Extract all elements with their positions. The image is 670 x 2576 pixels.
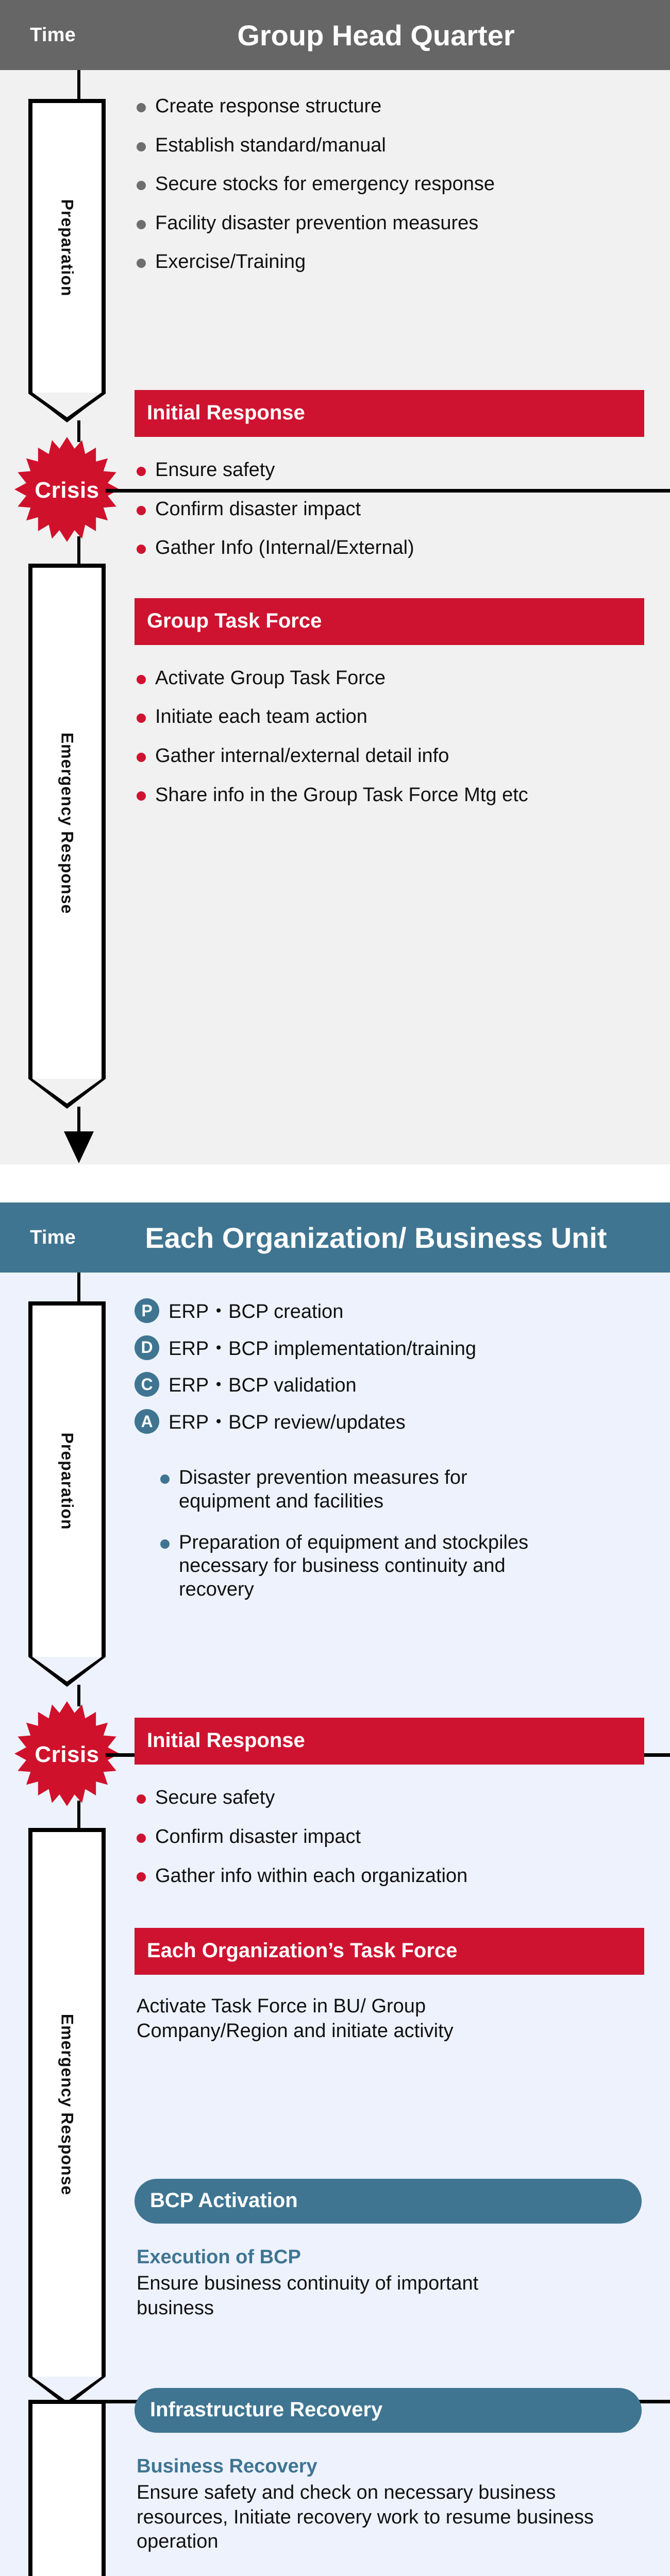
bullet-dot <box>137 259 146 268</box>
section1-time-label: Time <box>0 24 106 46</box>
prep-stem-3 <box>77 1273 80 1301</box>
bullet-dot <box>137 714 146 723</box>
list-item: Gather Info (Internal/External) <box>135 536 670 560</box>
crisis-label-2: Crisis <box>13 1701 121 1808</box>
section2-title: Each Organization/ Business Unit <box>106 1221 670 1255</box>
pdca-badge-a: A <box>135 1409 159 1434</box>
list-item: DERP・BCP implementation/training <box>135 1337 670 1361</box>
prep-arrow-body-1: Preparation <box>28 99 106 393</box>
bullet-dot <box>137 142 146 151</box>
prep-axis-label-2: Preparation <box>58 1433 77 1530</box>
section2-body: Preparation Crisis Emergency Response <box>0 1273 670 2576</box>
preparation-sub-bullets: Disaster prevention measures for equipme… <box>135 1448 670 1601</box>
group-task-force-bullets: Activate Group Task Force Initiate each … <box>135 645 670 807</box>
bullet-dot <box>137 675 146 684</box>
list-item: Gather internal/external detail info <box>135 744 670 768</box>
list-item: Secure stocks for emergency response <box>135 173 670 196</box>
org-task-force-text: Activate Task Force in BU/ Group Company… <box>135 1975 670 2044</box>
emergency-arrow-tip-1 <box>28 1079 106 1111</box>
bullet-dot <box>137 103 146 112</box>
crisis-label-1: Crisis <box>13 437 121 544</box>
prep-stem-1 <box>77 70 80 99</box>
bullet-dot <box>137 1872 146 1882</box>
list-item: PERP・BCP creation <box>135 1300 670 1324</box>
list-item: Disaster prevention measures for equipme… <box>158 1466 670 1513</box>
bullet-dot <box>137 791 146 801</box>
bcp-activation-pill: BCP Activation <box>135 2179 642 2224</box>
bullet-dot <box>137 545 146 554</box>
crisis-stem-1 <box>77 536 80 566</box>
crisis-burst-2: Crisis <box>13 1701 121 1808</box>
initial-response-bar-2: Initial Response <box>135 1718 644 1765</box>
list-item: CERP・BCP validation <box>135 1374 670 1398</box>
bullet-dot <box>160 1475 170 1484</box>
section2-header: Time Each Organization/ Business Unit <box>0 1202 670 1273</box>
initial-response-bullets-1: Ensure safety Confirm disaster impact Ga… <box>135 437 670 560</box>
bullet-dot <box>160 1539 170 1549</box>
group-task-force-bar: Group Task Force <box>135 598 644 645</box>
bullet-dot <box>137 220 146 229</box>
continuity-arrow-body: Business Continuity/Recovery <box>28 2400 106 2576</box>
pdca-badge-d: D <box>135 1335 159 1360</box>
list-item: Create response structure <box>135 95 670 118</box>
list-item: Establish standard/manual <box>135 134 670 158</box>
end-arrowhead-1 <box>64 1131 94 1165</box>
list-item: Gather info within each organization <box>135 1865 670 1888</box>
execution-of-bcp-heading: Execution of BCP <box>135 2224 670 2268</box>
list-item: Activate Group Task Force <box>135 667 670 690</box>
section2-content: PERP・BCP creation DERP・BCP implementatio… <box>135 1273 670 2554</box>
list-item: Initiate each team action <box>135 705 670 729</box>
emergency-axis-label-2: Emergency Response <box>58 2013 77 2195</box>
list-item: AERP・BCP review/updates <box>135 1411 670 1435</box>
prep-arrow-body-2: Preparation <box>28 1301 106 1657</box>
pdca-badge-c: C <box>135 1372 159 1397</box>
section2-time-label: Time <box>0 1227 106 1249</box>
bcp-flow-diagram: Time Group Head Quarter Preparation <box>0 0 670 2576</box>
bullet-dot <box>137 1834 146 1843</box>
list-item: Confirm disaster impact <box>135 498 670 521</box>
bullet-dot <box>137 181 146 190</box>
crisis-stem-2 <box>77 1801 80 1831</box>
emergency-axis-label-1: Emergency Response <box>58 733 77 914</box>
crisis-burst-1: Crisis <box>13 437 121 544</box>
initial-response-bullets-2: Secure safety Confirm disaster impact Ga… <box>135 1765 670 1888</box>
section1-body: Preparation Crisis Emergency Response <box>0 70 670 1164</box>
bullet-dot <box>137 753 146 762</box>
emergency-arrow-body-2: Emergency Response <box>28 1828 106 2377</box>
prep-axis-label-1: Preparation <box>58 199 77 297</box>
bullet-dot <box>137 1794 146 1804</box>
section1-header: Time Group Head Quarter <box>0 0 670 70</box>
initial-response-bar-1: Initial Response <box>135 390 644 437</box>
section1-content: Create response structure Establish stan… <box>135 70 670 822</box>
business-recovery-heading: Business Recovery <box>135 2433 670 2478</box>
end-stem-1 <box>77 1107 80 1134</box>
infrastructure-recovery-pill: Infrastructure Recovery <box>135 2388 642 2433</box>
preparation-bullets-1: Create response structure Establish stan… <box>135 70 670 274</box>
list-item: Confirm disaster impact <box>135 1825 670 1849</box>
prep-arrow-tip-2 <box>28 1657 106 1689</box>
emergency-arrow-body-1: Emergency Response <box>28 564 106 1079</box>
list-item: Facility disaster prevention measures <box>135 212 670 235</box>
pdca-badge-p: P <box>135 1298 159 1323</box>
prep-arrow-tip-1 <box>28 393 106 425</box>
business-recovery-body: Ensure safety and check on necessary bus… <box>135 2481 670 2555</box>
bullet-dot <box>137 467 146 476</box>
list-item: Secure safety <box>135 1786 670 1810</box>
org-task-force-bar: Each Organization’s Task Force <box>135 1928 644 1975</box>
list-item: Ensure safety <box>135 459 670 482</box>
list-item: Exercise/Training <box>135 250 670 274</box>
bullet-dot <box>137 506 146 515</box>
section2-time-axis: Preparation Crisis Emergency Response <box>0 1273 135 2576</box>
pdca-list: PERP・BCP creation DERP・BCP implementatio… <box>135 1273 670 1434</box>
section1-title: Group Head Quarter <box>106 19 670 52</box>
section1-time-axis: Preparation Crisis Emergency Response <box>0 70 135 1164</box>
section-gap <box>0 1164 670 1202</box>
list-item: Preparation of equipment and stockpiles … <box>158 1531 670 1602</box>
list-item: Share info in the Group Task Force Mtg e… <box>135 784 670 807</box>
execution-of-bcp-body: Ensure business continuity of important … <box>135 2272 670 2321</box>
